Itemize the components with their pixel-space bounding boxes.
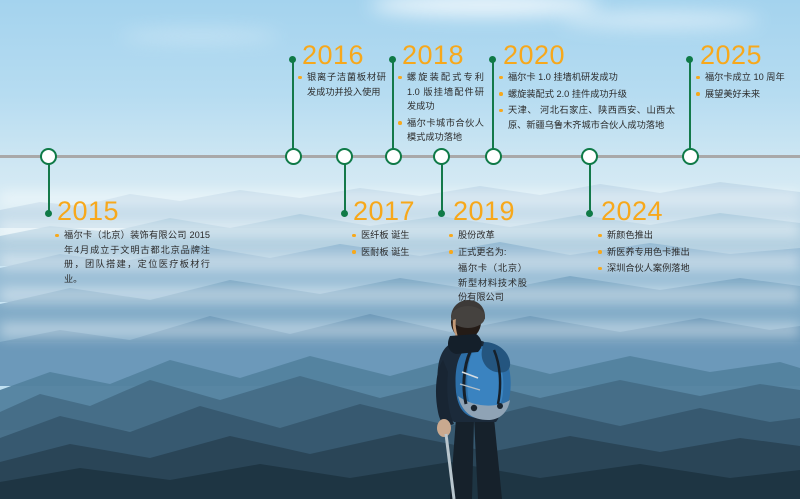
- stem-2025: [689, 60, 691, 150]
- year-label-2018: 2018: [402, 42, 464, 69]
- stem-2017: [344, 163, 346, 213]
- milestone-item: 福尔卡（北京）装饰有限公司 2015 年4月成立于文明古都北京品牌注册，团队搭建…: [55, 228, 210, 286]
- stem-2016: [292, 60, 294, 150]
- milestone-block-2025: 福尔卡成立 10 周年 展望美好未来: [696, 70, 796, 103]
- stem-tip-2015: [45, 210, 52, 217]
- milestone-item: 福尔卡（北京）新型材料技术股份有限公司: [449, 261, 527, 305]
- year-label-2019: 2019: [453, 198, 515, 225]
- milestone-block-2018: 螺旋装配式专利 1.0 版挂墙配件研发成功 福尔卡城市合伙人模式成功落地: [398, 70, 484, 147]
- milestone-block-2020: 福尔卡 1.0 挂墙机研发成功 螺旋装配式 2.0 挂件成功升级 天津、 河北石…: [499, 70, 675, 134]
- year-label-2017: 2017: [353, 198, 415, 225]
- milestone-block-2019: 股份改革 正式更名为: 福尔卡（北京）新型材料技术股份有限公司: [449, 228, 527, 307]
- milestone-item: 银离子洁菌板材研发成功并投入使用: [298, 70, 386, 99]
- stem-tip-2016: [289, 56, 296, 63]
- timeline-infographic: 2015 福尔卡（北京）装饰有限公司 2015 年4月成立于文明古都北京品牌注册…: [0, 0, 800, 499]
- milestone-item: 福尔卡成立 10 周年: [696, 70, 796, 85]
- stem-tip-2020: [489, 56, 496, 63]
- cloud-wisp-3: [120, 30, 280, 42]
- milestone-item: 展望美好未来: [696, 87, 796, 102]
- timeline-node-2019[interactable]: [433, 148, 450, 165]
- year-label-2025: 2025: [700, 42, 762, 69]
- timeline-node-2016[interactable]: [285, 148, 302, 165]
- milestone-item: 新医养专用色卡推出: [598, 245, 708, 260]
- stem-tip-2019: [438, 210, 445, 217]
- milestone-item: 股份改革: [449, 228, 527, 243]
- stem-2015: [48, 163, 50, 213]
- stem-2018: [392, 60, 394, 150]
- stem-2024: [589, 163, 591, 213]
- milestone-item: 福尔卡 1.0 挂墙机研发成功: [499, 70, 675, 85]
- milestone-block-2024: 新颜色推出 新医养专用色卡推出 深圳合伙人案例落地: [598, 228, 708, 278]
- milestone-item: 天津、 河北石家庄、陕西西安、山西太原、新疆乌鲁木齐城市合伙人成功落地: [499, 103, 675, 132]
- year-label-2015: 2015: [57, 198, 119, 225]
- milestone-item: 医纤板 诞生: [352, 228, 442, 243]
- stem-tip-2017: [341, 210, 348, 217]
- stem-tip-2024: [586, 210, 593, 217]
- milestone-item: 深圳合伙人案例落地: [598, 261, 708, 276]
- milestone-item: 新颜色推出: [598, 228, 708, 243]
- cloud-wisp-2: [560, 12, 760, 28]
- milestone-block-2015: 福尔卡（北京）装饰有限公司 2015 年4月成立于文明古都北京品牌注册，团队搭建…: [55, 228, 210, 288]
- year-label-2024: 2024: [601, 198, 663, 225]
- milestone-item: 福尔卡城市合伙人模式成功落地: [398, 116, 484, 145]
- stem-tip-2018: [389, 56, 396, 63]
- stem-2020: [492, 60, 494, 150]
- timeline-node-2018[interactable]: [385, 148, 402, 165]
- year-label-2016: 2016: [302, 42, 364, 69]
- timeline-node-2015[interactable]: [40, 148, 57, 165]
- milestone-item: 医耐板 诞生: [352, 245, 442, 260]
- milestone-item: 正式更名为:: [449, 245, 527, 260]
- timeline-node-2017[interactable]: [336, 148, 353, 165]
- timeline-node-2020[interactable]: [485, 148, 502, 165]
- timeline-node-2025[interactable]: [682, 148, 699, 165]
- stem-tip-2025: [686, 56, 693, 63]
- timeline-node-2024[interactable]: [581, 148, 598, 165]
- year-label-2020: 2020: [503, 42, 565, 69]
- hiker-figure: [398, 300, 578, 499]
- milestone-block-2016: 银离子洁菌板材研发成功并投入使用: [298, 70, 386, 101]
- milestone-item: 螺旋装配式专利 1.0 版挂墙配件研发成功: [398, 70, 484, 114]
- milestone-item: 螺旋装配式 2.0 挂件成功升级: [499, 87, 675, 102]
- milestone-block-2017: 医纤板 诞生 医耐板 诞生: [352, 228, 442, 261]
- stem-2019: [441, 163, 443, 213]
